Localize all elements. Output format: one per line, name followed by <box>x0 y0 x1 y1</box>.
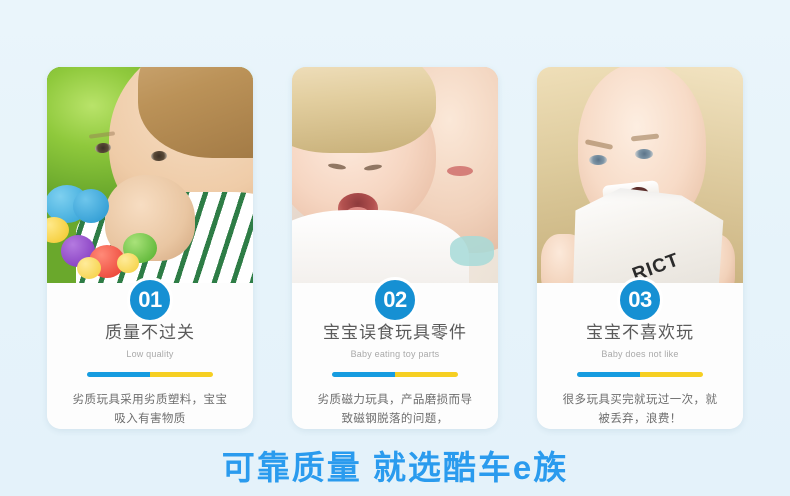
card-subtitle: Baby does not like <box>547 348 733 360</box>
promo-headline: 可靠质量 就选酷车e族 <box>0 448 790 488</box>
card-title: 宝宝不喜欢玩 <box>547 323 733 343</box>
card-description: 很多玩具买完就玩过一次，就被丢弃，浪费！ <box>547 391 733 429</box>
feature-card-01[interactable]: 01 质量不过关 Low quality 劣质玩具采用劣质塑料，宝宝吸入有害物质 <box>47 67 253 429</box>
divider-left-blue <box>577 372 640 377</box>
card-photo-crying-baby <box>292 67 498 283</box>
teal-object <box>450 236 494 266</box>
two-tone-divider <box>577 372 703 377</box>
toy-bead-yellow-2 <box>77 257 101 279</box>
card-photo-baby-chewing-toy <box>47 67 253 283</box>
divider-right-yellow <box>150 372 213 377</box>
card-title: 宝宝误食玩具零件 <box>302 323 488 343</box>
divider-left-blue <box>332 372 395 377</box>
toy-bead-blue-2 <box>73 189 109 223</box>
feature-card-03[interactable]: RICT 03 宝宝不喜欢玩 Baby does not like 很多玩具买完… <box>537 67 743 429</box>
promo-banner: 01 质量不过关 Low quality 劣质玩具采用劣质塑料，宝宝吸入有害物质 <box>0 0 790 496</box>
feature-card-02[interactable]: 02 宝宝误食玩具零件 Baby eating toy parts 劣质磁力玩具… <box>292 67 498 429</box>
two-tone-divider <box>87 372 213 377</box>
toy-bead-yellow-3 <box>117 253 139 273</box>
card-title: 质量不过关 <box>57 323 243 343</box>
divider-right-yellow <box>640 372 703 377</box>
card-subtitle: Low quality <box>57 348 243 360</box>
woman-right-eye <box>635 149 653 159</box>
woman-left-eye <box>589 155 607 165</box>
card-number-badge: 02 <box>372 277 418 323</box>
card-description: 劣质玩具采用劣质塑料，宝宝吸入有害物质 <box>57 391 243 429</box>
divider-left-blue <box>87 372 150 377</box>
divider-right-yellow <box>395 372 458 377</box>
card-photo-woman-biting-paper: RICT <box>537 67 743 283</box>
card-description: 劣质磁力玩具，产品磨损而导致磁钢脱落的问题， <box>302 391 488 429</box>
feature-card-list: 01 质量不过关 Low quality 劣质玩具采用劣质塑料，宝宝吸入有害物质 <box>47 67 743 429</box>
card-number-badge: 01 <box>127 277 173 323</box>
card-subtitle: Baby eating toy parts <box>302 348 488 360</box>
card-number-badge: 03 <box>617 277 663 323</box>
two-tone-divider <box>332 372 458 377</box>
